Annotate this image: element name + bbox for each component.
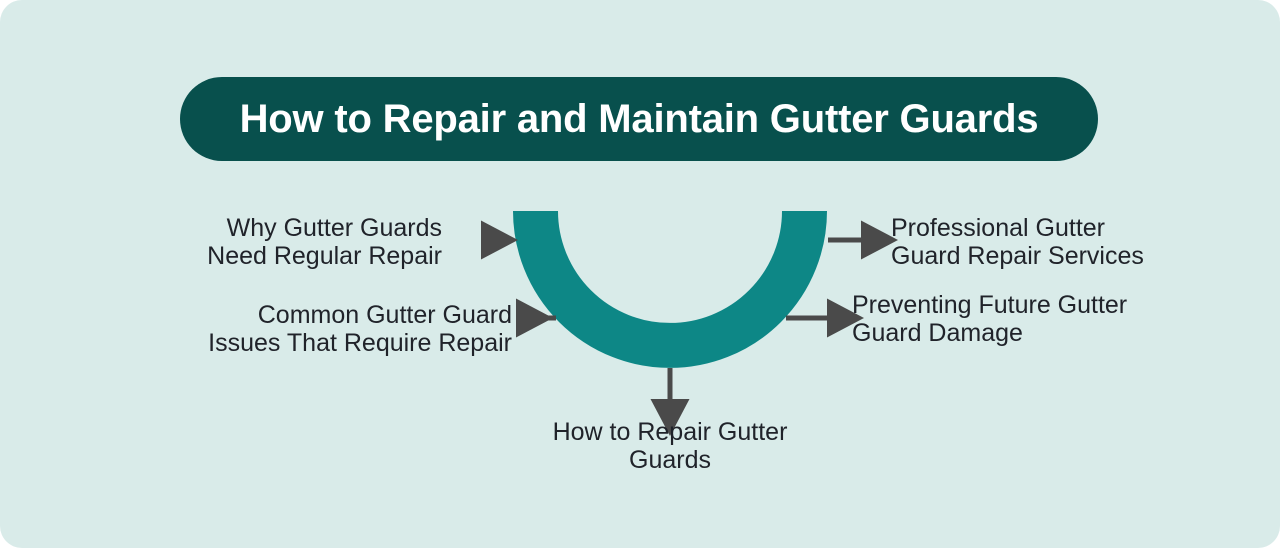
branch-label-preventing-future-gutter-guard-damage: Preventing Future Gutter Guard Damage [852, 291, 1192, 347]
infographic-canvas: How to Repair and Maintain Gutter Guards [0, 0, 1280, 548]
hub-arc [536, 211, 805, 345]
branch-label-common-gutter-guard-issues: Common Gutter Guard Issues That Require … [90, 301, 512, 357]
branch-label-how-to-repair-gutter-guards: How to Repair Gutter Guards [520, 418, 820, 474]
branch-label-why-gutter-guards-need-regular-repair: Why Gutter Guards Need Regular Repair [110, 214, 442, 270]
branch-label-professional-gutter-guard-repair-services: Professional Gutter Guard Repair Service… [891, 214, 1231, 270]
